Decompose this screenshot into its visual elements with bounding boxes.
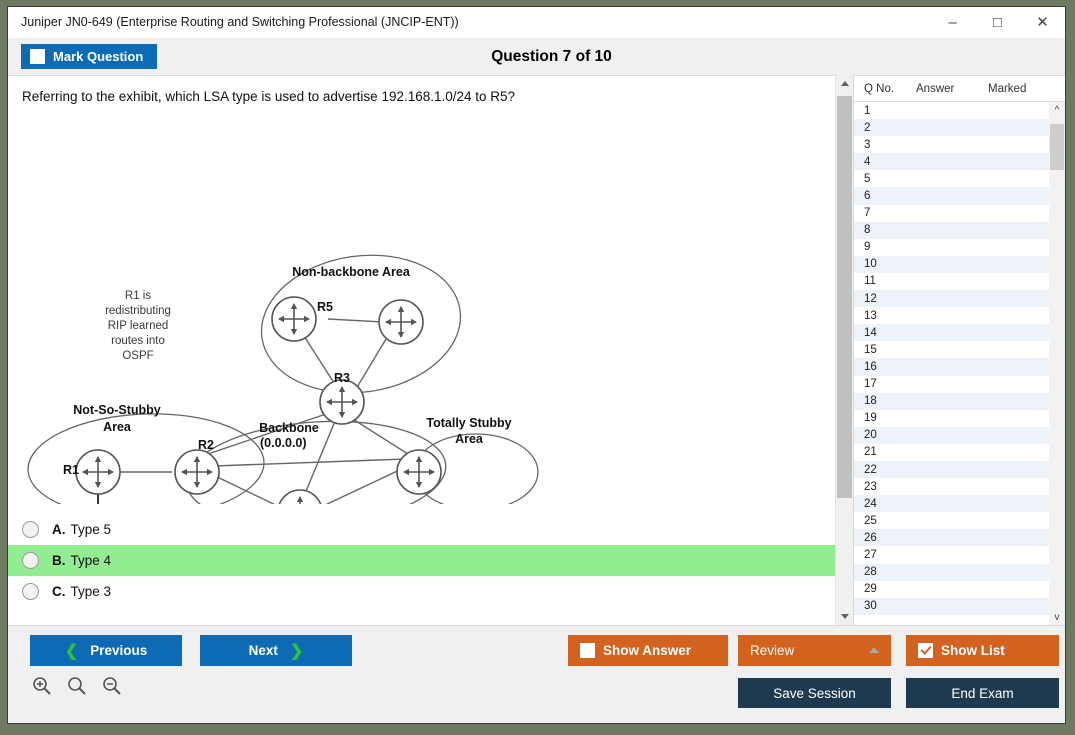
mark-question-button[interactable]: Mark Question [21,44,157,69]
maximize-icon[interactable]: □ [975,8,1020,37]
svg-text:Non-backbone Area: Non-backbone Area [292,265,411,279]
svg-text:R5: R5 [317,300,333,314]
minimize-icon[interactable]: – [930,8,975,37]
question-list-row[interactable]: 5 [854,170,1049,187]
list-scroll-up-icon[interactable]: ^ [1049,102,1065,118]
router-r1-icon [76,450,120,494]
row-question-number: 12 [854,293,914,305]
option-text-a: Type 5 [71,522,112,537]
question-list-body: 1234567891011121314151617181920212223242… [854,102,1065,625]
row-question-number: 23 [854,481,914,493]
answer-option-a[interactable]: A. Type 5 [8,514,835,545]
question-list-row[interactable]: 19 [854,410,1049,427]
question-list-scrollbar[interactable]: ^ v [1049,102,1065,625]
question-list-row[interactable]: 17 [854,376,1049,393]
row-question-number: 26 [854,532,914,544]
show-answer-button[interactable]: Show Answer [568,635,728,666]
svg-text:OSPF: OSPF [122,350,153,362]
show-list-button[interactable]: Show List [906,635,1059,666]
show-answer-label: Show Answer [603,643,691,658]
question-list-row[interactable]: 21 [854,444,1049,461]
row-question-number: 6 [854,190,914,202]
zoom-reset-icon[interactable] [67,676,87,696]
next-label: Next [249,643,278,658]
row-question-number: 5 [854,173,914,185]
row-question-number: 18 [854,395,914,407]
column-header-qno: Q No. [854,83,916,95]
end-exam-button[interactable]: End Exam [906,678,1059,708]
question-list-row[interactable]: 26 [854,529,1049,546]
close-icon[interactable]: ✕ [1020,8,1065,37]
router-nonbackbone-icon [379,300,423,344]
row-question-number: 28 [854,566,914,578]
question-list-row[interactable]: 20 [854,427,1049,444]
show-list-label: Show List [941,643,1005,658]
row-question-number: 10 [854,258,914,270]
question-list-row[interactable]: 7 [854,205,1049,222]
svg-text:R3: R3 [334,371,350,385]
router-r4-icon [278,490,322,504]
question-pane-scrollbar[interactable] [835,75,853,625]
row-question-number: 19 [854,412,914,424]
svg-text:R1 is: R1 is [125,290,151,302]
chevron-left-icon: ❮ [65,641,78,661]
show-answer-checkbox-icon[interactable] [580,643,595,658]
option-text-b: Type 4 [71,553,112,568]
window-title: Juniper JN0-649 (Enterprise Routing and … [8,15,930,29]
zoom-controls [32,676,122,696]
question-list-row[interactable]: 16 [854,358,1049,375]
row-question-number: 24 [854,498,914,510]
show-list-checkbox-icon[interactable] [918,643,933,658]
row-question-number: 13 [854,310,914,322]
row-question-number: 20 [854,429,914,441]
row-question-number: 21 [854,446,914,458]
question-list-row[interactable]: 6 [854,187,1049,204]
row-question-number: 3 [854,139,914,151]
previous-button[interactable]: ❮ Previous [30,635,182,666]
router-r3-icon [320,380,364,424]
option-text-c: Type 3 [71,584,112,599]
row-question-number: 15 [854,344,914,356]
row-question-number: 11 [854,275,914,287]
question-list-row[interactable]: 27 [854,546,1049,563]
question-list-row[interactable]: 12 [854,290,1049,307]
question-list-row[interactable]: 25 [854,512,1049,529]
question-list-row[interactable]: 22 [854,461,1049,478]
question-list-row[interactable]: 13 [854,307,1049,324]
svg-text:R2: R2 [198,438,214,452]
question-pane: Referring to the exhibit, which LSA type… [8,75,835,625]
question-list-row[interactable]: 14 [854,324,1049,341]
svg-text:Totally Stubby: Totally Stubby [426,416,511,430]
review-label: Review [750,643,794,658]
svg-text:RIP learned: RIP learned [108,320,169,332]
svg-text:redistributing: redistributing [105,305,171,317]
svg-text:Backbone: Backbone [259,421,319,435]
chevron-up-icon [869,647,879,653]
save-session-label: Save Session [773,686,856,701]
option-letter-a: A. [52,522,66,537]
question-text: Referring to the exhibit, which LSA type… [8,76,835,112]
zoom-in-icon[interactable] [32,676,52,696]
option-letter-c: C. [52,584,66,599]
router-r5-icon [272,297,316,341]
question-list-row[interactable]: 11 [854,273,1049,290]
question-list-row[interactable]: 10 [854,256,1049,273]
row-question-number: 27 [854,549,914,561]
question-list-row[interactable]: 24 [854,495,1049,512]
row-question-number: 29 [854,583,914,595]
svg-text:Not-So-Stubby: Not-So-Stubby [73,403,161,417]
row-question-number: 9 [854,241,914,253]
column-header-answer: Answer [916,83,988,95]
router-stubby-abr-icon [397,450,441,494]
list-scrollbar-track[interactable] [1049,118,1065,609]
svg-text:routes into: routes into [111,335,165,347]
svg-text:R1: R1 [63,463,79,477]
radio-icon-a[interactable] [22,521,39,538]
row-question-number: 8 [854,224,914,236]
answer-option-c[interactable]: C. Type 3 [8,576,835,607]
svg-text:(0.0.0.0): (0.0.0.0) [260,436,307,450]
question-list-row[interactable]: 8 [854,222,1049,239]
question-list-row[interactable]: 15 [854,341,1049,358]
question-list-rows: 1234567891011121314151617181920212223242… [854,102,1049,625]
question-list-row[interactable]: 2 [854,119,1049,136]
zoom-out-icon[interactable] [102,676,122,696]
question-counter: Question 7 of 10 [38,48,1065,66]
exhibit-network-diagram: Non-backbone Area R5 R3 R1 R2 R4 Not-So-… [16,114,596,504]
scrollbar-track[interactable] [836,92,853,608]
question-list-row[interactable]: 1 [854,102,1049,119]
body-area: Referring to the exhibit, which LSA type… [8,75,1065,625]
router-r2-icon [175,450,219,494]
answer-options: A. Type 5 B. Type 4 C. Type 3 [8,514,835,607]
title-bar: Juniper JN0-649 (Enterprise Routing and … [8,7,1065,38]
radio-icon-b[interactable] [22,552,39,569]
row-question-number: 1 [854,105,914,117]
footer-toolbar: ❮ Previous Next ❯ Show Answer Review Sho… [8,625,1065,723]
previous-label: Previous [90,643,147,658]
review-dropdown-button[interactable]: Review [738,635,891,666]
question-list-row[interactable]: 18 [854,393,1049,410]
row-question-number: 16 [854,361,914,373]
radio-icon-c[interactable] [22,583,39,600]
end-exam-label: End Exam [951,686,1013,701]
question-list-row[interactable]: 3 [854,136,1049,153]
question-list-row[interactable]: 9 [854,239,1049,256]
row-question-number: 7 [854,207,914,219]
list-scrollbar-thumb[interactable] [1050,124,1064,170]
question-list-row[interactable]: 4 [854,153,1049,170]
column-header-marked: Marked [988,83,1058,95]
question-list-row[interactable]: 28 [854,564,1049,581]
scroll-up-arrow-icon[interactable] [836,75,853,92]
chevron-right-icon: ❯ [290,641,303,661]
question-header-bar: Mark Question Question 7 of 10 [8,38,1065,75]
svg-text:Area: Area [455,432,484,446]
scroll-down-arrow-icon[interactable] [836,608,853,625]
row-question-number: 14 [854,327,914,339]
mark-question-label: Mark Question [53,49,143,64]
scrollbar-thumb[interactable] [837,96,852,498]
question-list-header: Q No. Answer Marked [854,76,1065,102]
mark-question-checkbox-icon[interactable] [30,49,45,64]
row-question-number: 25 [854,515,914,527]
option-letter-b: B. [52,553,66,568]
exam-application-window: Juniper JN0-649 (Enterprise Routing and … [7,6,1066,724]
question-list-panel: Q No. Answer Marked 12345678910111213141… [853,75,1065,625]
next-button[interactable]: Next ❯ [200,635,352,666]
question-list-row[interactable]: 29 [854,581,1049,598]
save-session-button[interactable]: Save Session [738,678,891,708]
list-scroll-down-icon[interactable]: v [1049,609,1065,625]
row-question-number: 17 [854,378,914,390]
row-question-number: 30 [854,600,914,612]
row-question-number: 22 [854,464,914,476]
question-list-row[interactable]: 23 [854,478,1049,495]
svg-text:Area: Area [103,420,132,434]
row-question-number: 4 [854,156,914,168]
row-question-number: 2 [854,122,914,134]
answer-option-b[interactable]: B. Type 4 [8,545,835,576]
question-list-row[interactable]: 30 [854,598,1049,615]
